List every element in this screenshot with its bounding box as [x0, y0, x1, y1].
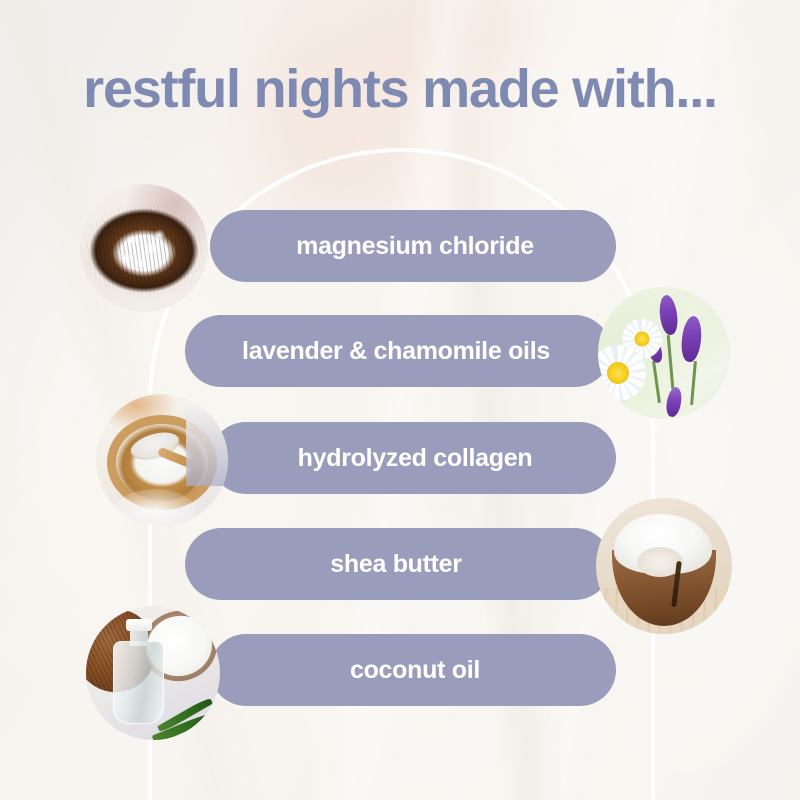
hydrolyzed-collagen-photo: [96, 394, 228, 526]
ingredient-label: shea butter: [330, 550, 461, 579]
ingredient-label: magnesium chloride: [296, 232, 534, 261]
ingredient-row: coconut oil: [0, 634, 800, 706]
ingredient-pill[interactable]: lavender & chamomile oils: [185, 315, 611, 387]
lavender-chamomile-photo: [598, 287, 730, 419]
ingredients-poster: restful nights made with... magnesium ch…: [0, 0, 800, 800]
ingredient-row: magnesium chloride: [0, 210, 800, 282]
ingredient-row: lavender & chamomile oils: [0, 315, 800, 387]
ingredient-row: shea butter: [0, 528, 800, 600]
ingredient-label: lavender & chamomile oils: [242, 337, 550, 366]
ingredient-label: coconut oil: [350, 656, 480, 685]
ingredient-row: hydrolyzed collagen: [0, 422, 800, 494]
ingredient-pill[interactable]: shea butter: [185, 528, 611, 600]
coconut-oil-photo: [86, 606, 220, 740]
magnesium-chloride-photo: [80, 184, 208, 312]
ingredient-pill[interactable]: magnesium chloride: [210, 210, 616, 282]
page-title: restful nights made with...: [0, 58, 800, 120]
ingredient-label: hydrolyzed collagen: [298, 444, 533, 473]
ingredient-pill[interactable]: hydrolyzed collagen: [210, 422, 616, 494]
shea-butter-photo: [596, 498, 732, 634]
ingredient-pill[interactable]: coconut oil: [210, 634, 616, 706]
